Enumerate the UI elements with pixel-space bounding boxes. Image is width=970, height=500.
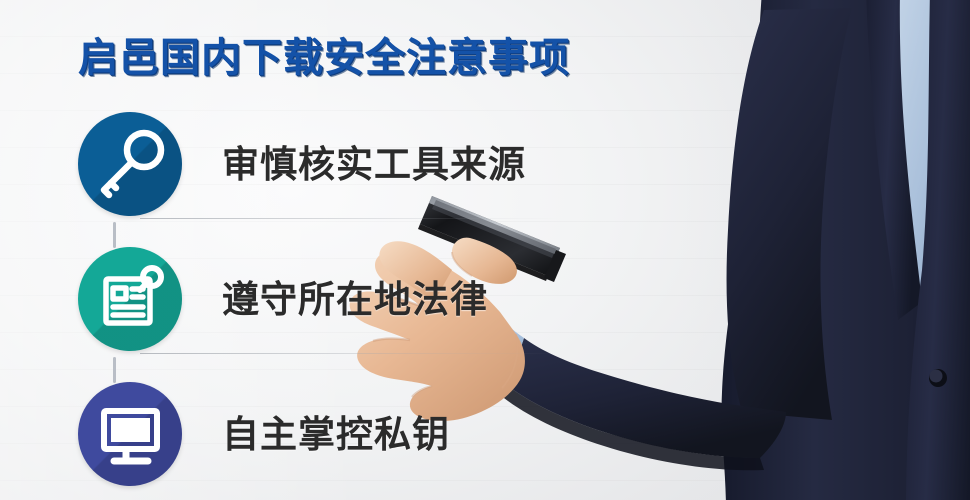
icon-wrapper [72,106,188,222]
list-item-label: 审慎核实工具来源 [222,134,526,188]
list-item[interactable]: 审慎核实工具来源 [0,98,620,233]
checklist: 审慎核实工具来源 [0,98,620,500]
desktop-monitor-icon [78,382,182,486]
item-divider [140,218,560,219]
list-item-label: 自主掌控私钥 [222,404,450,458]
slide-canvas: 启邑国内下载安全注意事项 [0,0,970,500]
icon-wrapper [72,376,188,492]
page-title: 启邑国内下载安全注意事项 [78,25,570,83]
list-item-label: 遵守所在地法律 [222,269,488,323]
magnifier-key-icon [78,112,182,216]
list-item[interactable]: 自主掌控私钥 [0,368,620,500]
icon-wrapper [72,241,188,357]
list-item[interactable]: 遵守所在地法律 [0,233,620,368]
item-divider [140,353,560,354]
document-search-icon [78,247,182,351]
